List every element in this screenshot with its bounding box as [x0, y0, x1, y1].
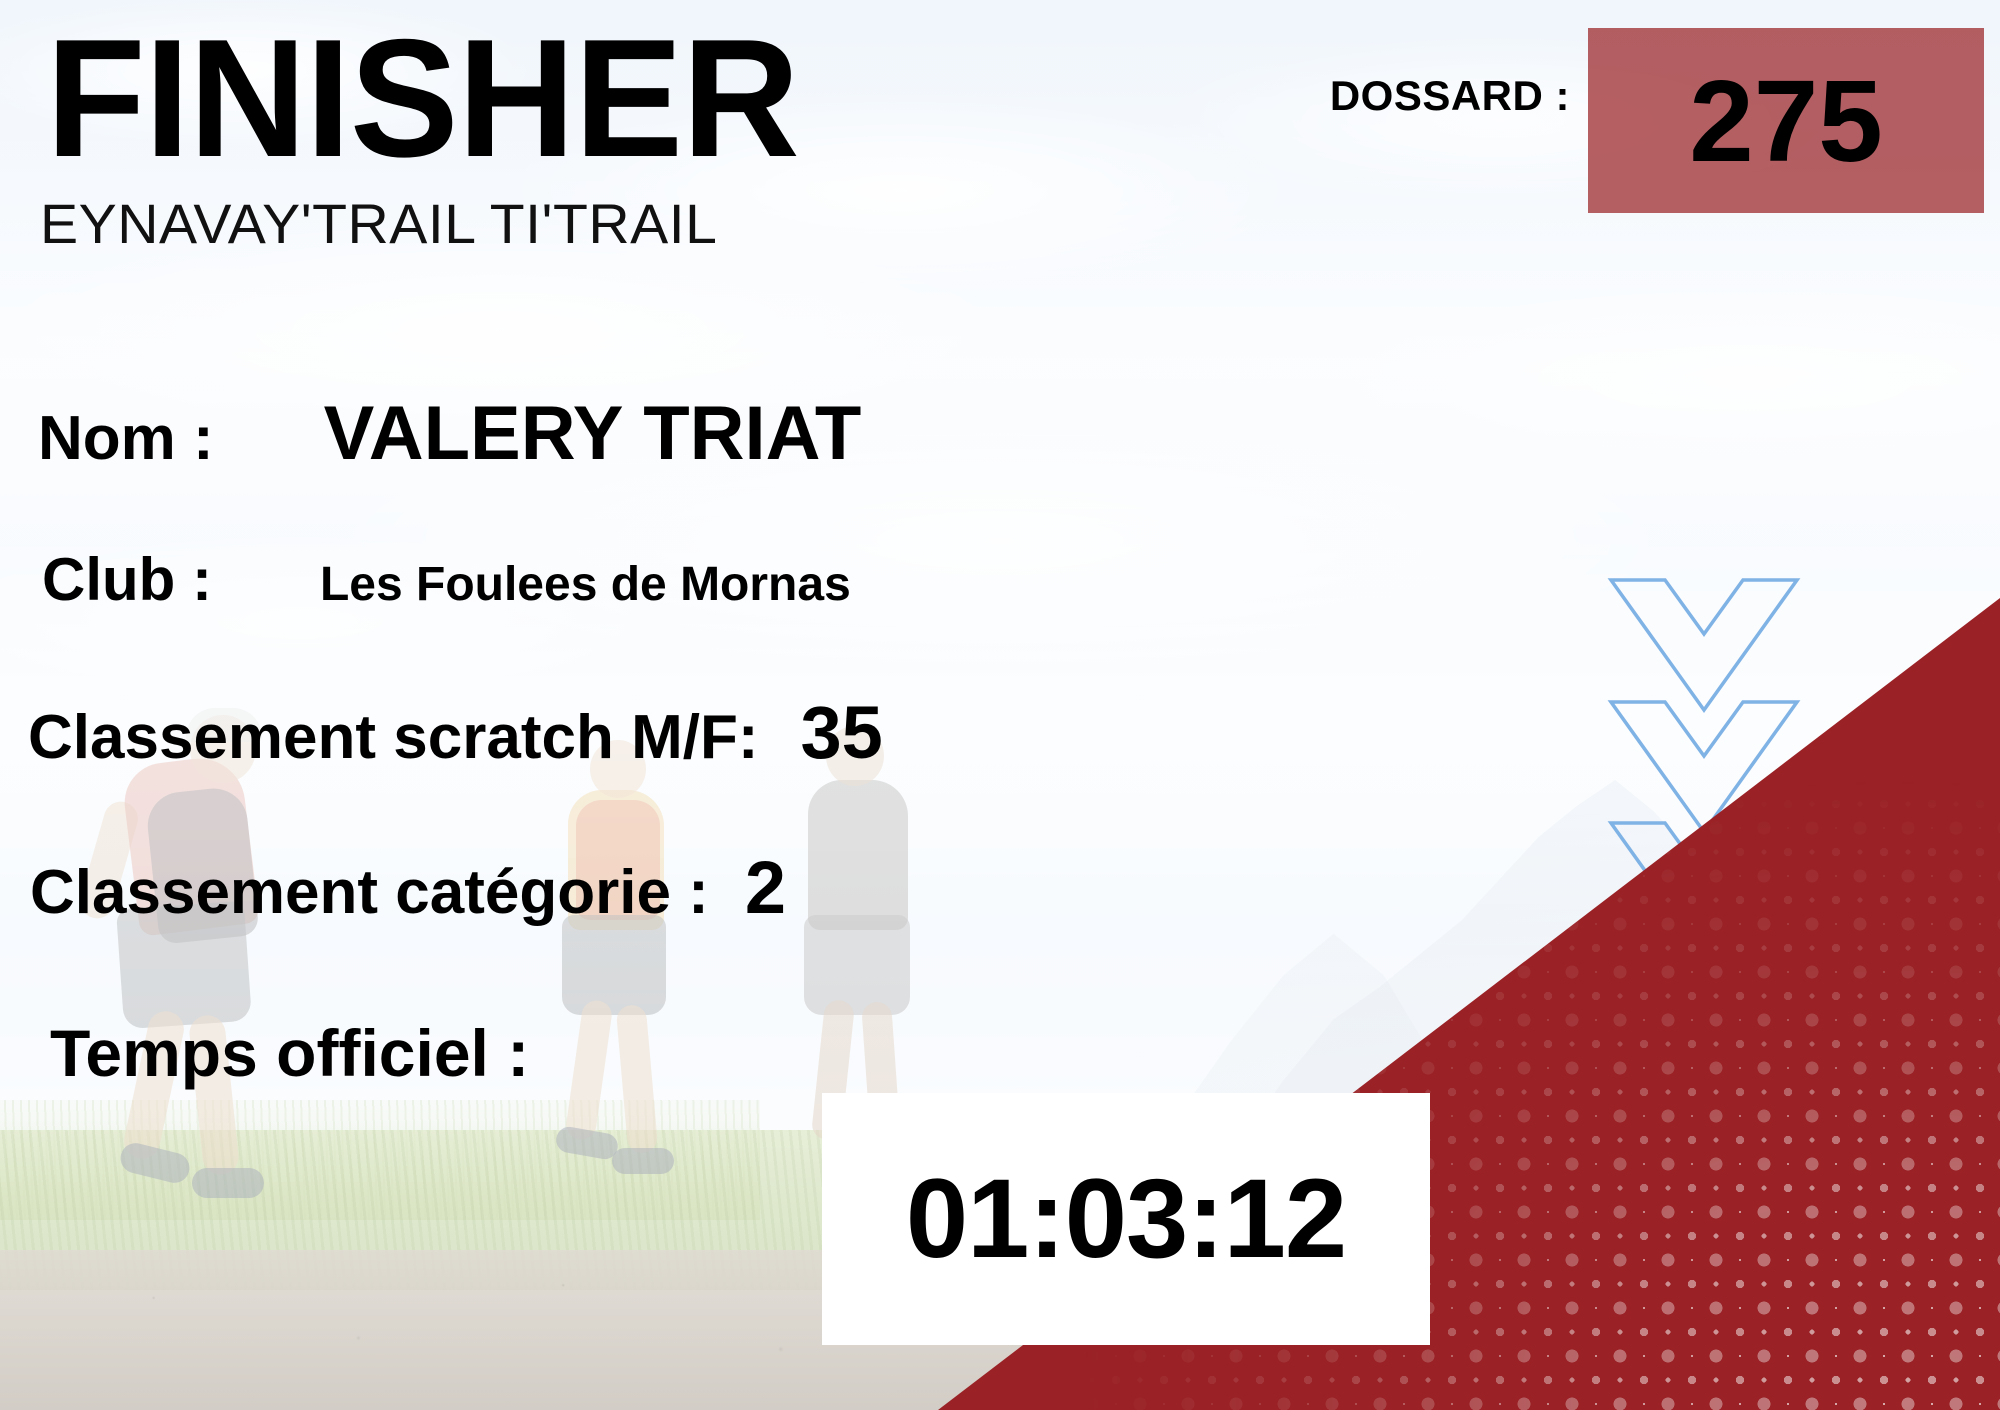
page-title: FINISHER: [46, 14, 799, 182]
categorie-label: Classement catégorie :: [30, 857, 709, 928]
event-name: EYNAVAY'TRAIL TI'TRAIL: [40, 196, 717, 252]
dossard-badge: 275: [1588, 28, 1984, 213]
nom-value: VALERY TRIAT: [324, 390, 862, 477]
club-label: Club :: [42, 545, 212, 614]
temps-label: Temps officiel :: [50, 1015, 529, 1091]
nom-label: Nom :: [38, 403, 214, 474]
dossard-label: DOSSARD :: [1330, 72, 1570, 120]
club-value: Les Foulees de Mornas: [320, 557, 851, 612]
field-row-scratch: Classement scratch M/F: 35: [28, 690, 883, 775]
field-row-temps: Temps officiel :: [50, 1015, 529, 1091]
categorie-value: 2: [745, 845, 786, 930]
field-row-club: Club : Les Foulees de Mornas: [42, 545, 851, 614]
chevron-down-icon: [1611, 580, 1797, 710]
official-time-box: 01:03:12: [822, 1093, 1430, 1345]
dossard-number: 275: [1689, 63, 1883, 179]
scratch-label: Classement scratch M/F:: [28, 702, 758, 773]
official-time-value: 01:03:12: [906, 1163, 1346, 1275]
scratch-value: 35: [800, 690, 882, 775]
field-row-categorie: Classement catégorie : 2: [30, 845, 786, 930]
field-row-nom: Nom : VALERY TRIAT: [38, 390, 861, 477]
finisher-certificate: FINISHER EYNAVAY'TRAIL TI'TRAIL DOSSARD …: [0, 0, 2000, 1410]
